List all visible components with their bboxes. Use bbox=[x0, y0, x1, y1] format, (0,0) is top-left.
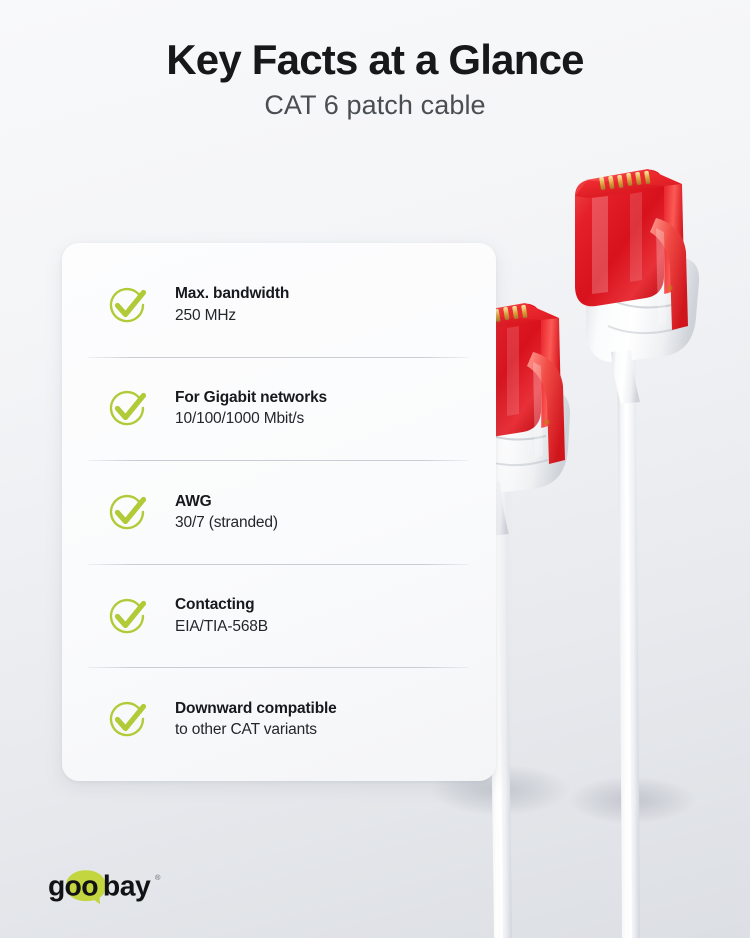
feature-row: For Gigabit networks 10/100/1000 Mbit/s bbox=[62, 357, 496, 461]
page-subtitle: CAT 6 patch cable bbox=[0, 91, 750, 121]
feature-value: to other CAT variants bbox=[175, 719, 337, 740]
goobay-wordmark: g oo bay ® bbox=[48, 868, 176, 905]
feature-row: Max. bandwidth 250 MHz bbox=[62, 253, 496, 357]
check-circle-icon bbox=[105, 594, 149, 638]
feature-value: 30/7 (stranded) bbox=[175, 512, 278, 533]
feature-row: Downward compatible to other CAT variant… bbox=[62, 667, 496, 771]
feature-row: AWG 30/7 (stranded) bbox=[62, 460, 496, 564]
goobay-logo: g oo bay ® bbox=[48, 868, 176, 908]
feature-value: EIA/TIA-568B bbox=[175, 616, 268, 637]
feature-label: Max. bandwidth bbox=[175, 283, 289, 304]
page-title: Key Facts at a Glance bbox=[0, 38, 750, 82]
check-circle-icon bbox=[105, 386, 149, 430]
feature-label: AWG bbox=[175, 491, 278, 512]
svg-text:oo: oo bbox=[64, 871, 98, 903]
svg-text:bay: bay bbox=[103, 871, 151, 903]
feature-value: 10/100/1000 Mbit/s bbox=[175, 408, 327, 429]
svg-text:g: g bbox=[48, 871, 65, 903]
rj45-connector-upper bbox=[575, 169, 699, 404]
feature-label: For Gigabit networks bbox=[175, 387, 327, 408]
cable-strand-back bbox=[617, 340, 640, 938]
feature-row: Contacting EIA/TIA-568B bbox=[62, 564, 496, 668]
header: Key Facts at a Glance CAT 6 patch cable bbox=[0, 38, 750, 121]
check-circle-icon bbox=[105, 490, 149, 534]
feature-value: 250 MHz bbox=[175, 305, 289, 326]
feature-label: Contacting bbox=[175, 594, 268, 615]
check-circle-icon bbox=[105, 283, 149, 327]
gold-contact-pins bbox=[599, 171, 650, 191]
key-facts-card: Max. bandwidth 250 MHz For Gigabit netwo… bbox=[62, 243, 496, 781]
svg-text:®: ® bbox=[155, 873, 161, 882]
feature-label: Downward compatible bbox=[175, 698, 337, 719]
check-circle-icon bbox=[105, 697, 149, 741]
